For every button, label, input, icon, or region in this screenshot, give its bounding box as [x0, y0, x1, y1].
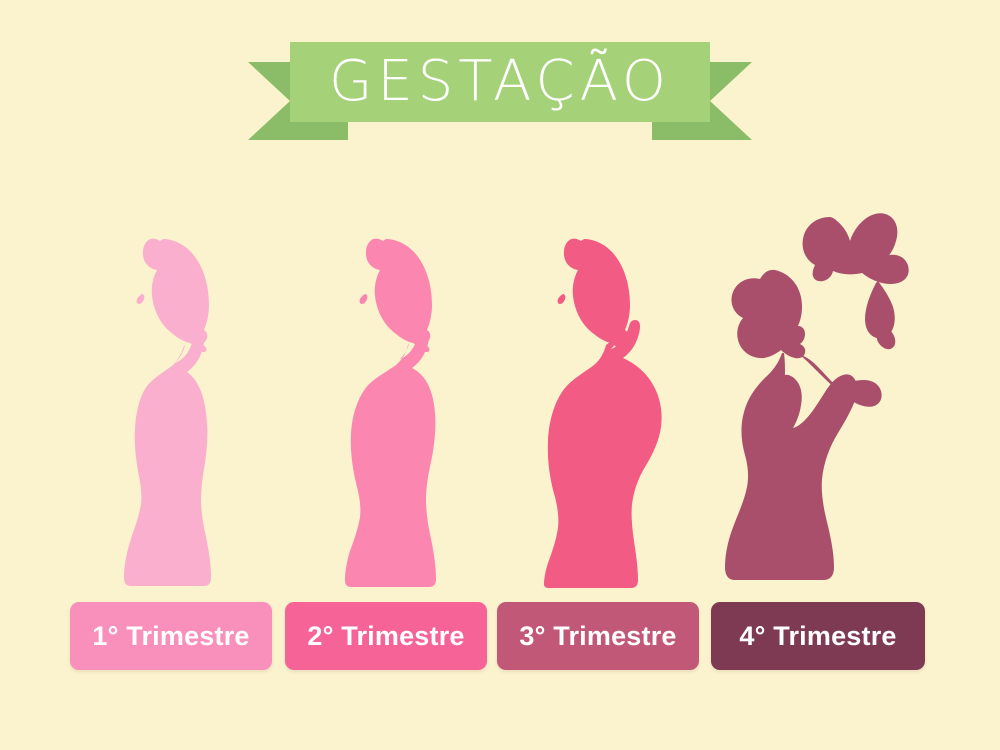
- pregnant-woman-silhouette-stage-3-icon: [535, 195, 690, 590]
- silhouette-trimester-2: [325, 195, 465, 590]
- trimester-label-2-text: 2° Trimestre: [307, 621, 464, 652]
- pregnant-woman-silhouette-stage-1-icon: [105, 195, 235, 590]
- silhouette-trimester-3: [535, 195, 690, 590]
- title-banner: GESTAÇÃO: [0, 0, 1000, 160]
- trimester-label-3[interactable]: 3° Trimestre: [497, 602, 699, 670]
- trimester-label-4-text: 4° Trimestre: [739, 621, 896, 652]
- trimester-label-3-text: 3° Trimestre: [519, 621, 676, 652]
- trimester-label-1-text: 1° Trimestre: [92, 621, 249, 652]
- pregnant-woman-silhouette-stage-2-icon: [325, 195, 465, 590]
- mother-lifting-baby-silhouette-icon: [700, 195, 920, 590]
- page-title: GESTAÇÃO: [290, 42, 710, 122]
- silhouette-trimester-1: [105, 195, 235, 590]
- trimester-label-row: 1° Trimestre 2° Trimestre 3° Trimestre 4…: [0, 602, 1000, 672]
- trimester-label-2[interactable]: 2° Trimestre: [285, 602, 487, 670]
- silhouette-row: [0, 195, 1000, 590]
- trimester-label-1[interactable]: 1° Trimestre: [70, 602, 272, 670]
- trimester-label-4[interactable]: 4° Trimestre: [711, 602, 925, 670]
- poster-canvas: GESTAÇÃO: [0, 0, 1000, 750]
- silhouette-trimester-4: [700, 195, 920, 590]
